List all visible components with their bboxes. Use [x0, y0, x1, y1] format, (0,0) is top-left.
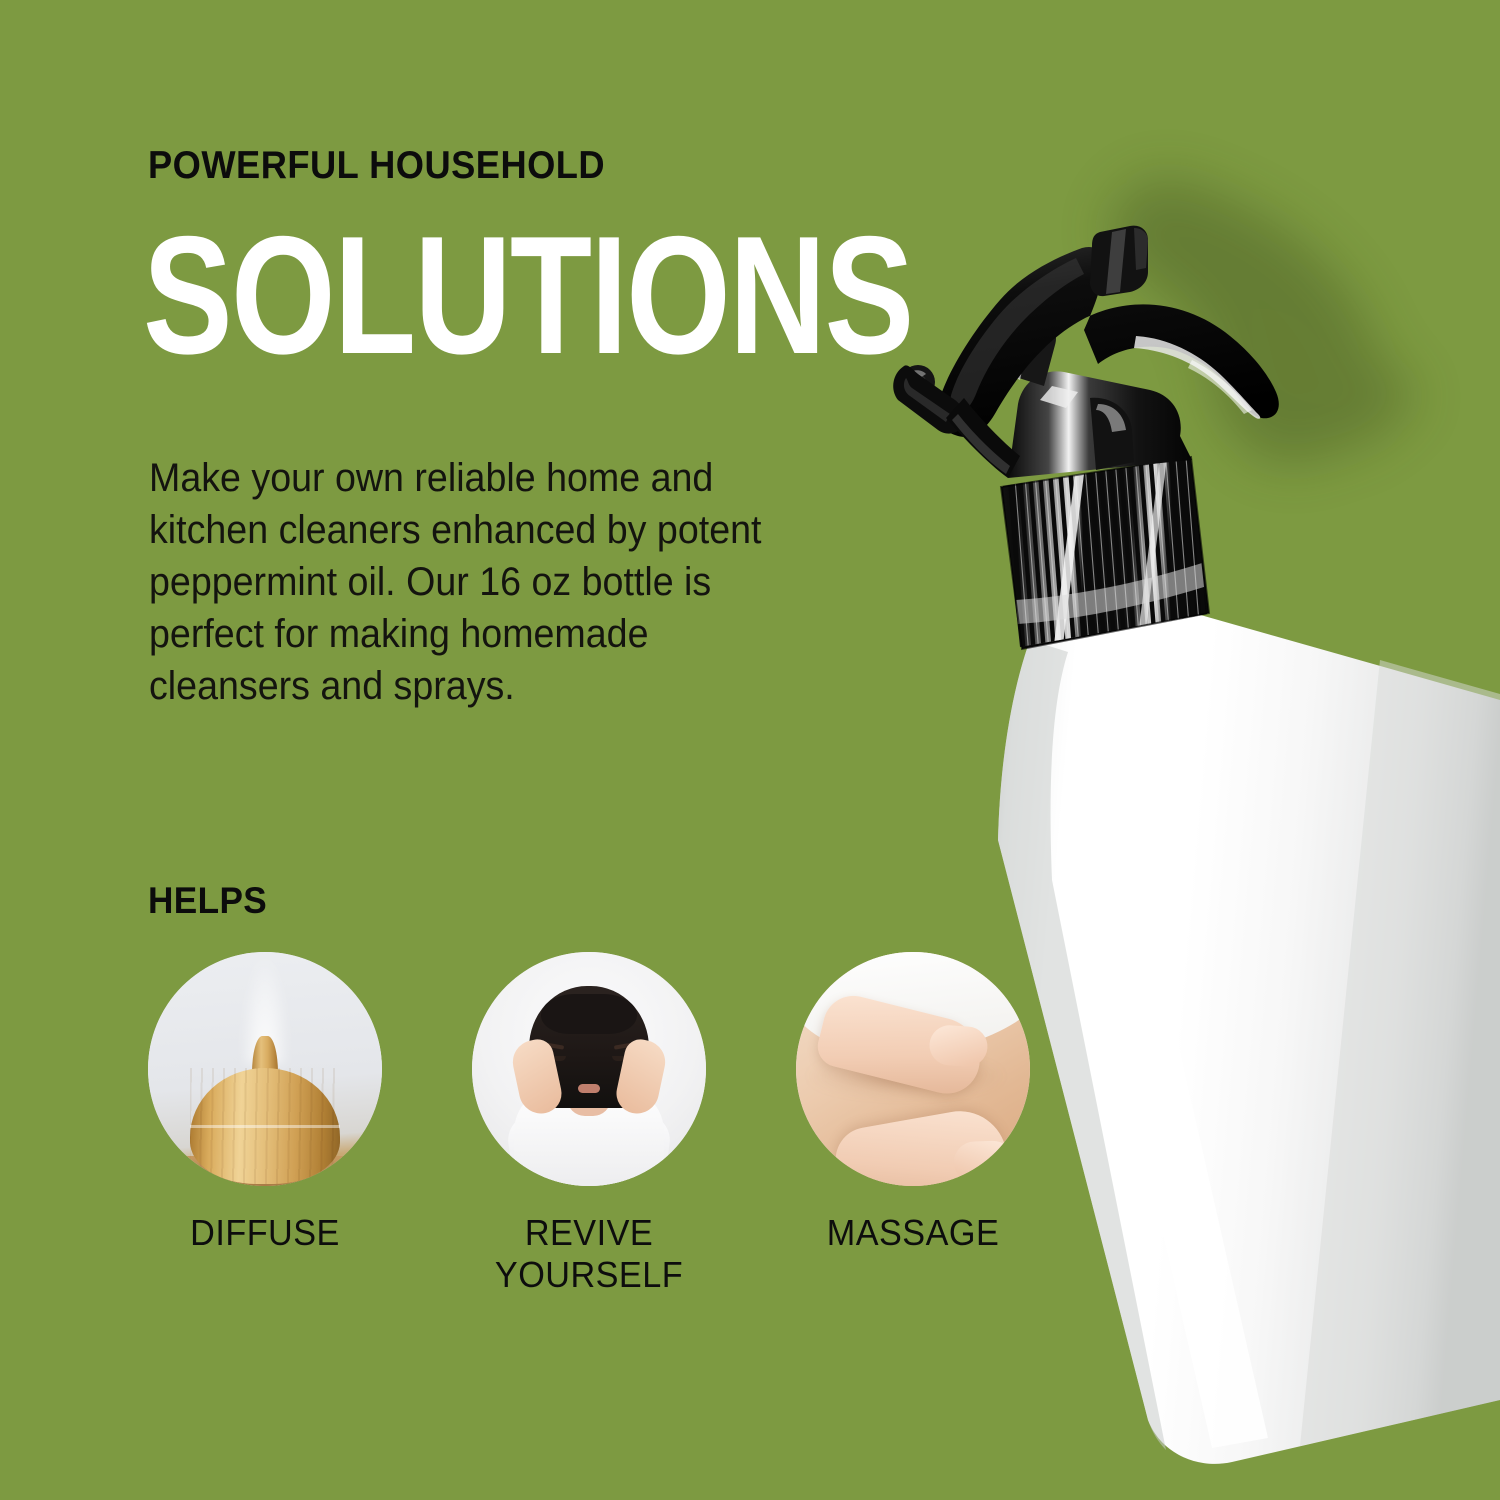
infographic-canvas: POWERFUL HOUSEHOLD SOLUTIONS Make your o… [0, 0, 1500, 1500]
page-title: SOLUTIONS [143, 218, 913, 373]
